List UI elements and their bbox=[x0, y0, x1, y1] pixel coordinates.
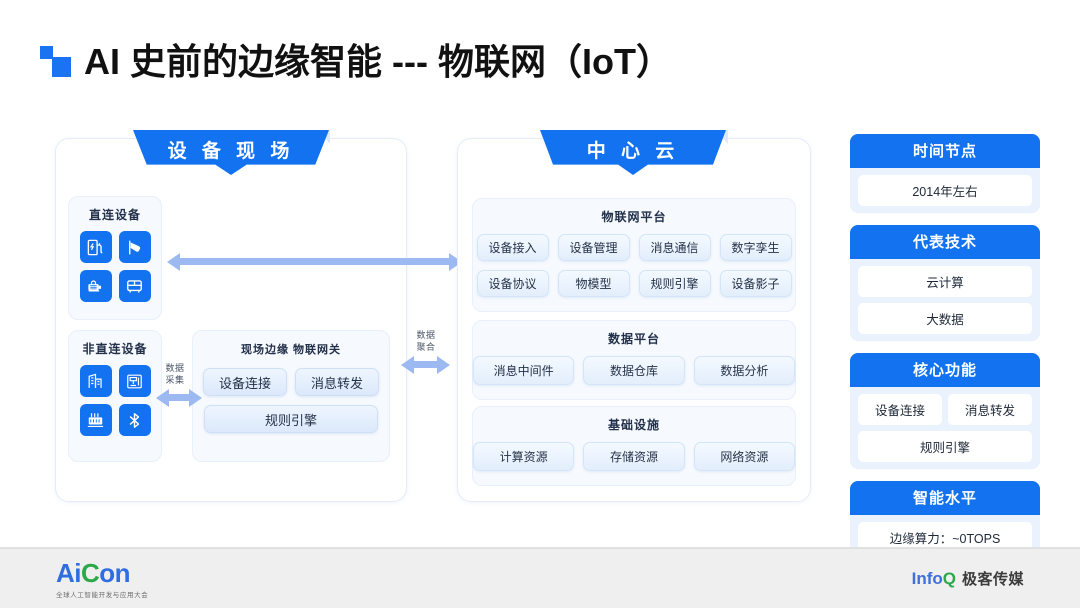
cell-message-comm: 消息通信 bbox=[639, 234, 711, 261]
group-indirect-devices-title: 非直连设备 bbox=[69, 340, 161, 357]
aicon-logo-subtitle: 全球人工智能开发与应用大会 bbox=[56, 589, 148, 599]
squares-logo-icon bbox=[40, 46, 70, 78]
group-indirect-devices: 非直连设备 bbox=[68, 330, 162, 462]
layer-iot-platform-title: 物联网平台 bbox=[473, 208, 795, 225]
aicon-logo-wordmark: AiCon bbox=[56, 560, 148, 586]
layer-data-platform-title: 数据平台 bbox=[473, 330, 795, 347]
arrow-aggregate-head-left bbox=[401, 356, 414, 374]
page-title: AI 史前的边缘智能 --- 物联网（IoT） bbox=[40, 44, 672, 80]
aicon-logo-ai: Ai bbox=[56, 558, 81, 588]
infrastructure-row-1: 计算资源 存储资源 网络资源 bbox=[473, 442, 795, 471]
card-edge-gateway: 现场边缘 物联网关 设备连接 消息转发 规则引擎 bbox=[192, 330, 390, 462]
building-icon bbox=[80, 365, 112, 397]
security-camera-icon bbox=[119, 231, 151, 263]
edge-gateway-chip-row: 设备连接 消息转发 bbox=[193, 368, 389, 396]
sidebar-pill-rule-engine: 规则引擎 bbox=[858, 431, 1032, 462]
bluetooth-icon bbox=[119, 404, 151, 436]
cell-device-access: 设备接入 bbox=[477, 234, 549, 261]
sidebar-pair-core: 设备连接 消息转发 bbox=[858, 394, 1032, 425]
arrow-aggregate-bar bbox=[414, 361, 438, 368]
cell-device-shadow: 设备影子 bbox=[720, 270, 792, 297]
direct-device-icon-grid bbox=[69, 231, 161, 302]
cell-storage-resource: 存储资源 bbox=[583, 442, 684, 471]
label-data-collection: 数据 采集 bbox=[158, 362, 192, 386]
sidebar-pill-message-forward: 消息转发 bbox=[948, 394, 1032, 425]
sidebar-block-timeline-title: 时间节点 bbox=[850, 134, 1040, 168]
sidebar-block-intelligence-level-title: 智能水平 bbox=[850, 481, 1040, 515]
layer-data-platform: 数据平台 消息中间件 数据仓库 数据分析 bbox=[472, 320, 796, 400]
sidebar-block-timeline: 时间节点 2014年左右 bbox=[850, 134, 1040, 213]
cell-network-resource: 网络资源 bbox=[694, 442, 795, 471]
cell-device-manage: 设备管理 bbox=[558, 234, 630, 261]
sidebar-block-core-functions: 核心功能 设备连接 消息转发 规则引擎 bbox=[850, 353, 1040, 469]
motor-icon bbox=[80, 270, 112, 302]
slide-root: AI 史前的边缘智能 --- 物联网（IoT） 设 备 现 场 直连设备 bbox=[0, 0, 1080, 608]
gantry-machine-icon bbox=[119, 365, 151, 397]
cell-thing-model: 物模型 bbox=[558, 270, 630, 297]
bus-icon bbox=[119, 270, 151, 302]
infoq-info-text: Info bbox=[912, 569, 943, 588]
arrow-collect-head-left bbox=[156, 389, 169, 407]
label-data-aggregation: 数据 聚合 bbox=[409, 329, 443, 353]
factory-icon bbox=[80, 404, 112, 436]
cell-compute-resource: 计算资源 bbox=[473, 442, 574, 471]
sidebar-block-core-functions-items: 设备连接 消息转发 规则引擎 bbox=[850, 387, 1040, 462]
cell-data-analysis: 数据分析 bbox=[694, 356, 795, 385]
group-direct-devices-title: 直连设备 bbox=[69, 206, 161, 223]
sidebar-block-technology-items: 云计算 大数据 bbox=[850, 259, 1040, 334]
arrow-collect-head-right bbox=[189, 389, 202, 407]
arrow-site-cloud-head-left bbox=[167, 253, 180, 271]
infoq-chinese-name: 极客传媒 bbox=[962, 568, 1024, 589]
group-direct-devices: 直连设备 bbox=[68, 196, 162, 320]
cell-message-middleware: 消息中间件 bbox=[473, 356, 574, 385]
sidebar-block-timeline-items: 2014年左右 bbox=[850, 168, 1040, 206]
aicon-logo-on: on bbox=[99, 558, 130, 588]
aicon-logo: AiCon 全球人工智能开发与应用大会 bbox=[56, 560, 148, 599]
data-platform-row-1: 消息中间件 数据仓库 数据分析 bbox=[473, 356, 795, 385]
cell-data-warehouse: 数据仓库 bbox=[583, 356, 684, 385]
chip-rule-engine: 规则引擎 bbox=[204, 405, 378, 433]
footer-content: AiCon 全球人工智能开发与应用大会 InfoQ 极客传媒 bbox=[0, 548, 1080, 608]
sidebar-pill-cloud-computing: 云计算 bbox=[858, 266, 1032, 297]
arrow-site-cloud-bar bbox=[180, 258, 450, 265]
sidebar-summary: 时间节点 2014年左右 代表技术 云计算 大数据 核心功能 设备连接 消息转发… bbox=[850, 134, 1040, 609]
logo-square-large bbox=[52, 57, 71, 77]
layer-iot-platform: 物联网平台 设备接入 设备管理 消息通信 数字孪生 设备协议 物模型 规则引擎 … bbox=[472, 198, 796, 312]
ev-charger-icon bbox=[80, 231, 112, 263]
sidebar-block-core-functions-title: 核心功能 bbox=[850, 353, 1040, 387]
cell-rule-engine: 规则引擎 bbox=[639, 270, 711, 297]
infoq-wordmark: InfoQ bbox=[912, 570, 956, 587]
cell-device-protocol: 设备协议 bbox=[477, 270, 549, 297]
layer-infrastructure: 基础设施 计算资源 存储资源 网络资源 bbox=[472, 406, 796, 486]
footer-bar: AiCon 全球人工智能开发与应用大会 InfoQ 极客传媒 bbox=[0, 547, 1080, 608]
iot-platform-row-1: 设备接入 设备管理 消息通信 数字孪生 bbox=[473, 234, 795, 261]
indirect-device-icon-grid bbox=[69, 365, 161, 436]
chip-message-forward: 消息转发 bbox=[295, 368, 379, 396]
sidebar-pill-big-data: 大数据 bbox=[858, 303, 1032, 334]
sidebar-pill-device-connect: 设备连接 bbox=[858, 394, 942, 425]
arrow-collect-bar bbox=[168, 394, 190, 401]
sidebar-block-technology-title: 代表技术 bbox=[850, 225, 1040, 259]
chip-device-connect: 设备连接 bbox=[203, 368, 287, 396]
sidebar-pill-year: 2014年左右 bbox=[858, 175, 1032, 206]
infoq-logo: InfoQ 极客传媒 bbox=[912, 568, 1024, 589]
cell-digital-twin: 数字孪生 bbox=[720, 234, 792, 261]
iot-platform-row-2: 设备协议 物模型 规则引擎 设备影子 bbox=[473, 270, 795, 297]
arrow-aggregate-head-right bbox=[437, 356, 450, 374]
sidebar-block-technology: 代表技术 云计算 大数据 bbox=[850, 225, 1040, 341]
aicon-logo-c: C bbox=[81, 558, 99, 588]
page-title-text: AI 史前的边缘智能 --- 物联网（IoT） bbox=[84, 44, 672, 80]
infoq-q-text: Q bbox=[943, 569, 956, 588]
layer-infrastructure-title: 基础设施 bbox=[473, 416, 795, 433]
edge-gateway-title: 现场边缘 物联网关 bbox=[193, 341, 389, 357]
